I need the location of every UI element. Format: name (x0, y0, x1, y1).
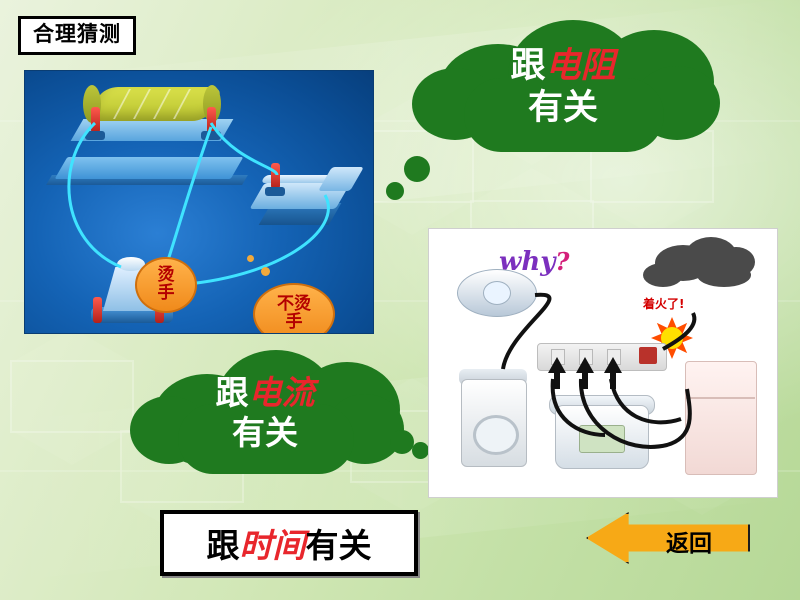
cloud-bubble-resistance: 跟电阻 有关 (398, 14, 728, 164)
cloud-resistance-tail-1 (404, 156, 430, 182)
thought-dot (247, 255, 254, 262)
return-button[interactable]: 返回 (586, 512, 750, 564)
thought-dot (261, 267, 270, 276)
conclusion-box: 跟时间有关 (160, 510, 418, 576)
callout-nothot-line2: 手 (277, 314, 311, 332)
appliance-cords (429, 229, 777, 497)
return-button-label[interactable]: 返回 (634, 524, 744, 558)
conclusion-text: 跟时间有关 (207, 519, 372, 567)
page-title: 合理猜测 (18, 16, 136, 55)
experiment-photo: 烫 手 不烫 手 (24, 70, 374, 334)
callout-hot-line2: 手 (158, 285, 175, 303)
cloud-resistance-line1: 跟电阻 (398, 48, 728, 85)
slide-canvas: 合理猜测 (0, 0, 800, 600)
callout-hot: 烫 手 (135, 257, 197, 313)
appliance-photo: why? 着火了! (428, 228, 778, 498)
cloud-resistance-line2: 有关 (398, 90, 728, 127)
cloud-bubble-current: 跟电流 有关 (120, 346, 410, 486)
cloud-current-tail-2 (412, 442, 429, 459)
cloud-current-line2: 有关 (120, 416, 410, 451)
cloud-current-line1: 跟电流 (120, 376, 410, 411)
cloud-resistance-tail-2 (386, 182, 404, 200)
